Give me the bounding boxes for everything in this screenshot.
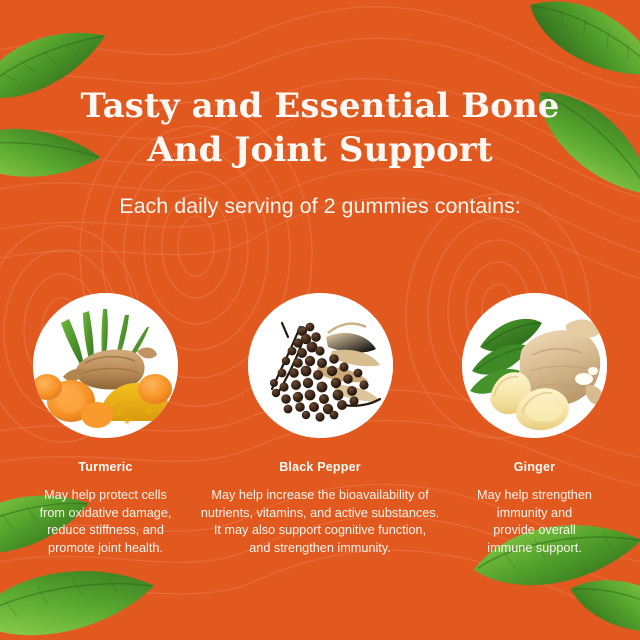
subheadline: Each daily serving of 2 gummies contains… [0,192,640,220]
black-pepper-image-circle [248,293,393,438]
ingredient-card-black-pepper: Black Pepper May help increase the bioav… [200,293,440,557]
ingredient-card-ginger: Ginger May help strengthen immunity and … [437,293,632,557]
ingredient-description-ginger: May help strengthen immunity and provide… [437,487,632,557]
ginger-image-circle [462,293,607,438]
headline-line-2: And Joint Support [0,128,640,172]
infographic-poster: Tasty and Essential Bone And Joint Suppo… [0,0,640,640]
ingredient-description-turmeric: May help protect cells from oxidative da… [8,487,203,557]
turmeric-image-circle [33,293,178,438]
ingredient-card-turmeric: Turmeric May help protect cells from oxi… [8,293,203,557]
ingredient-description-black-pepper: May help increase the bioavailability of… [200,487,440,557]
headline-line-1: Tasty and Essential Bone [0,84,640,128]
ingredient-name-turmeric: Turmeric [8,460,203,474]
ingredient-name-ginger: Ginger [437,460,632,474]
page-title: Tasty and Essential Bone And Joint Suppo… [0,84,640,172]
ingredient-name-black-pepper: Black Pepper [200,460,440,474]
